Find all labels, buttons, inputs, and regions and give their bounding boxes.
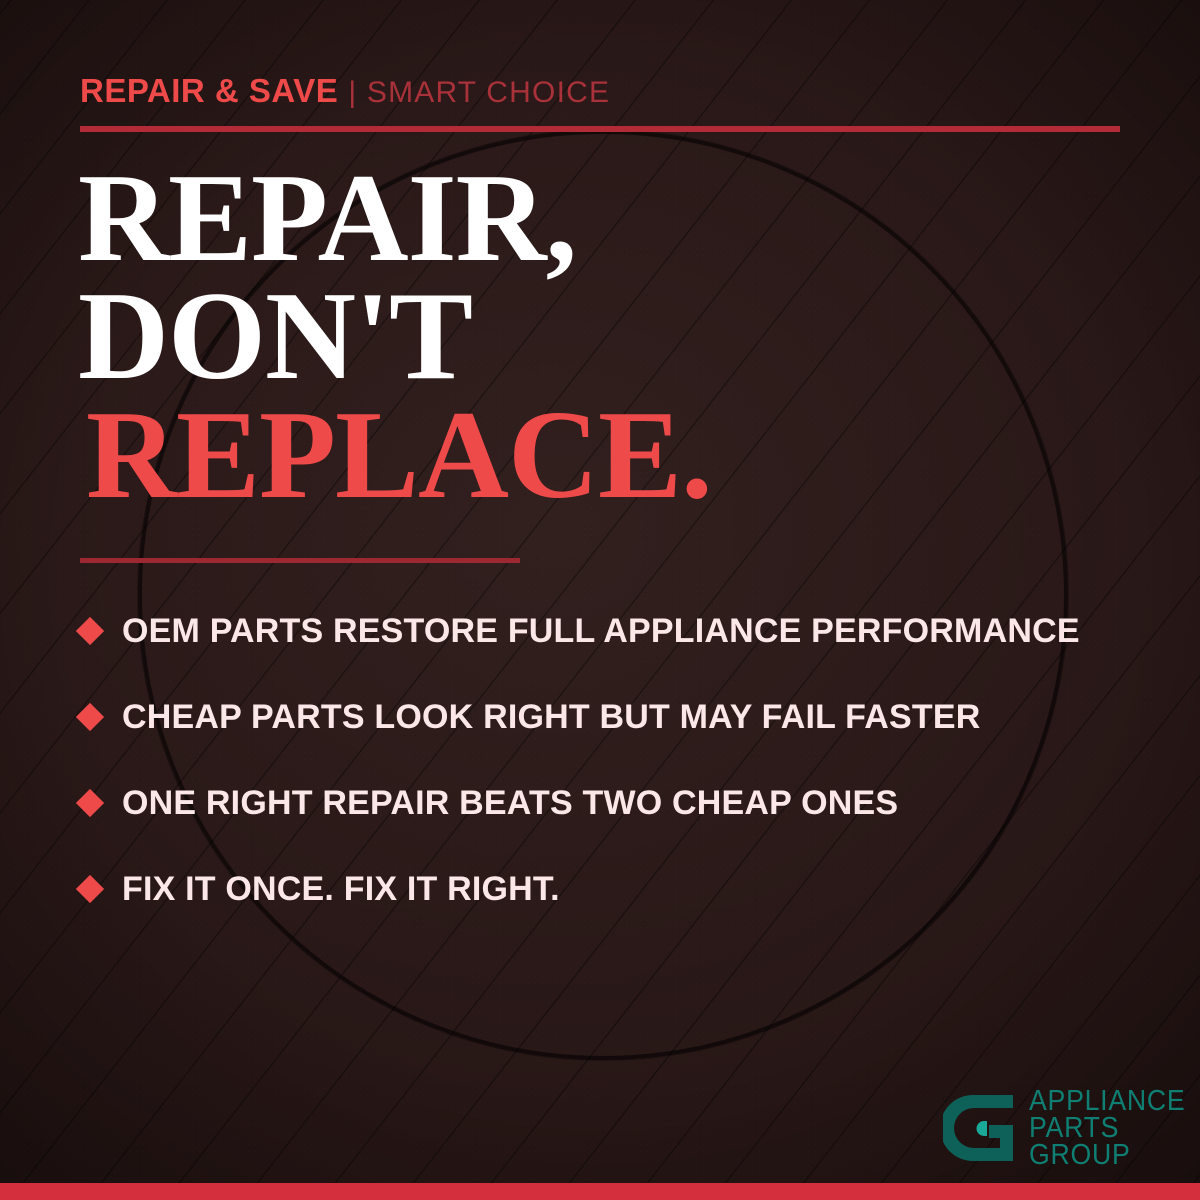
kicker-main-label: REPAIR & SAVE — [80, 72, 338, 109]
kicker: REPAIR & SAVE| SMART CHOICE — [80, 74, 610, 108]
diamond-bullet-icon — [76, 789, 104, 817]
list-item: OEM PARTS RESTORE FULL APPLIANCE PERFORM… — [80, 588, 1150, 674]
list-item-label: OEM PARTS RESTORE FULL APPLIANCE PERFORM… — [122, 614, 1080, 648]
brand-name-line-1: APPLIANCE — [1029, 1088, 1185, 1115]
brand-logo: APPLIANCE PARTS GROUP — [943, 1088, 1199, 1169]
kicker-sub-label: | SMART CHOICE — [348, 76, 610, 109]
brand-name-line-2: PARTS — [1029, 1115, 1185, 1142]
promo-poster: REPAIR & SAVE| SMART CHOICE REPAIR, DON'… — [0, 0, 1200, 1200]
headline-line-1: REPAIR, — [78, 160, 712, 278]
list-item: FIX IT ONCE. FIX IT RIGHT. — [80, 846, 1150, 932]
list-item: ONE RIGHT REPAIR BEATS TWO CHEAP ONES — [80, 760, 1150, 846]
benefit-list: OEM PARTS RESTORE FULL APPLIANCE PERFORM… — [80, 588, 1150, 932]
brand-name: APPLIANCE PARTS GROUP — [1029, 1088, 1185, 1169]
list-item: CHEAP PARTS LOOK RIGHT BUT MAY FAIL FAST… — [80, 674, 1150, 760]
diamond-bullet-icon — [76, 703, 104, 731]
headline-line-3: REPLACE. — [78, 397, 712, 515]
brand-name-line-3: GROUP — [1029, 1142, 1185, 1169]
list-item-label: CHEAP PARTS LOOK RIGHT BUT MAY FAIL FAST… — [122, 700, 980, 734]
header-divider-rule — [80, 126, 1120, 132]
diamond-bullet-icon — [76, 875, 104, 903]
headline-divider-rule — [80, 558, 520, 563]
g-monogram-icon — [943, 1091, 1017, 1165]
poster-content: REPAIR & SAVE| SMART CHOICE REPAIR, DON'… — [0, 0, 1200, 1200]
headline: REPAIR, DON'T REPLACE. — [78, 160, 712, 515]
list-item-label: FIX IT ONCE. FIX IT RIGHT. — [122, 872, 560, 906]
headline-line-2: DON'T — [78, 278, 712, 396]
diamond-bullet-icon — [76, 617, 104, 645]
list-item-label: ONE RIGHT REPAIR BEATS TWO CHEAP ONES — [122, 786, 898, 820]
